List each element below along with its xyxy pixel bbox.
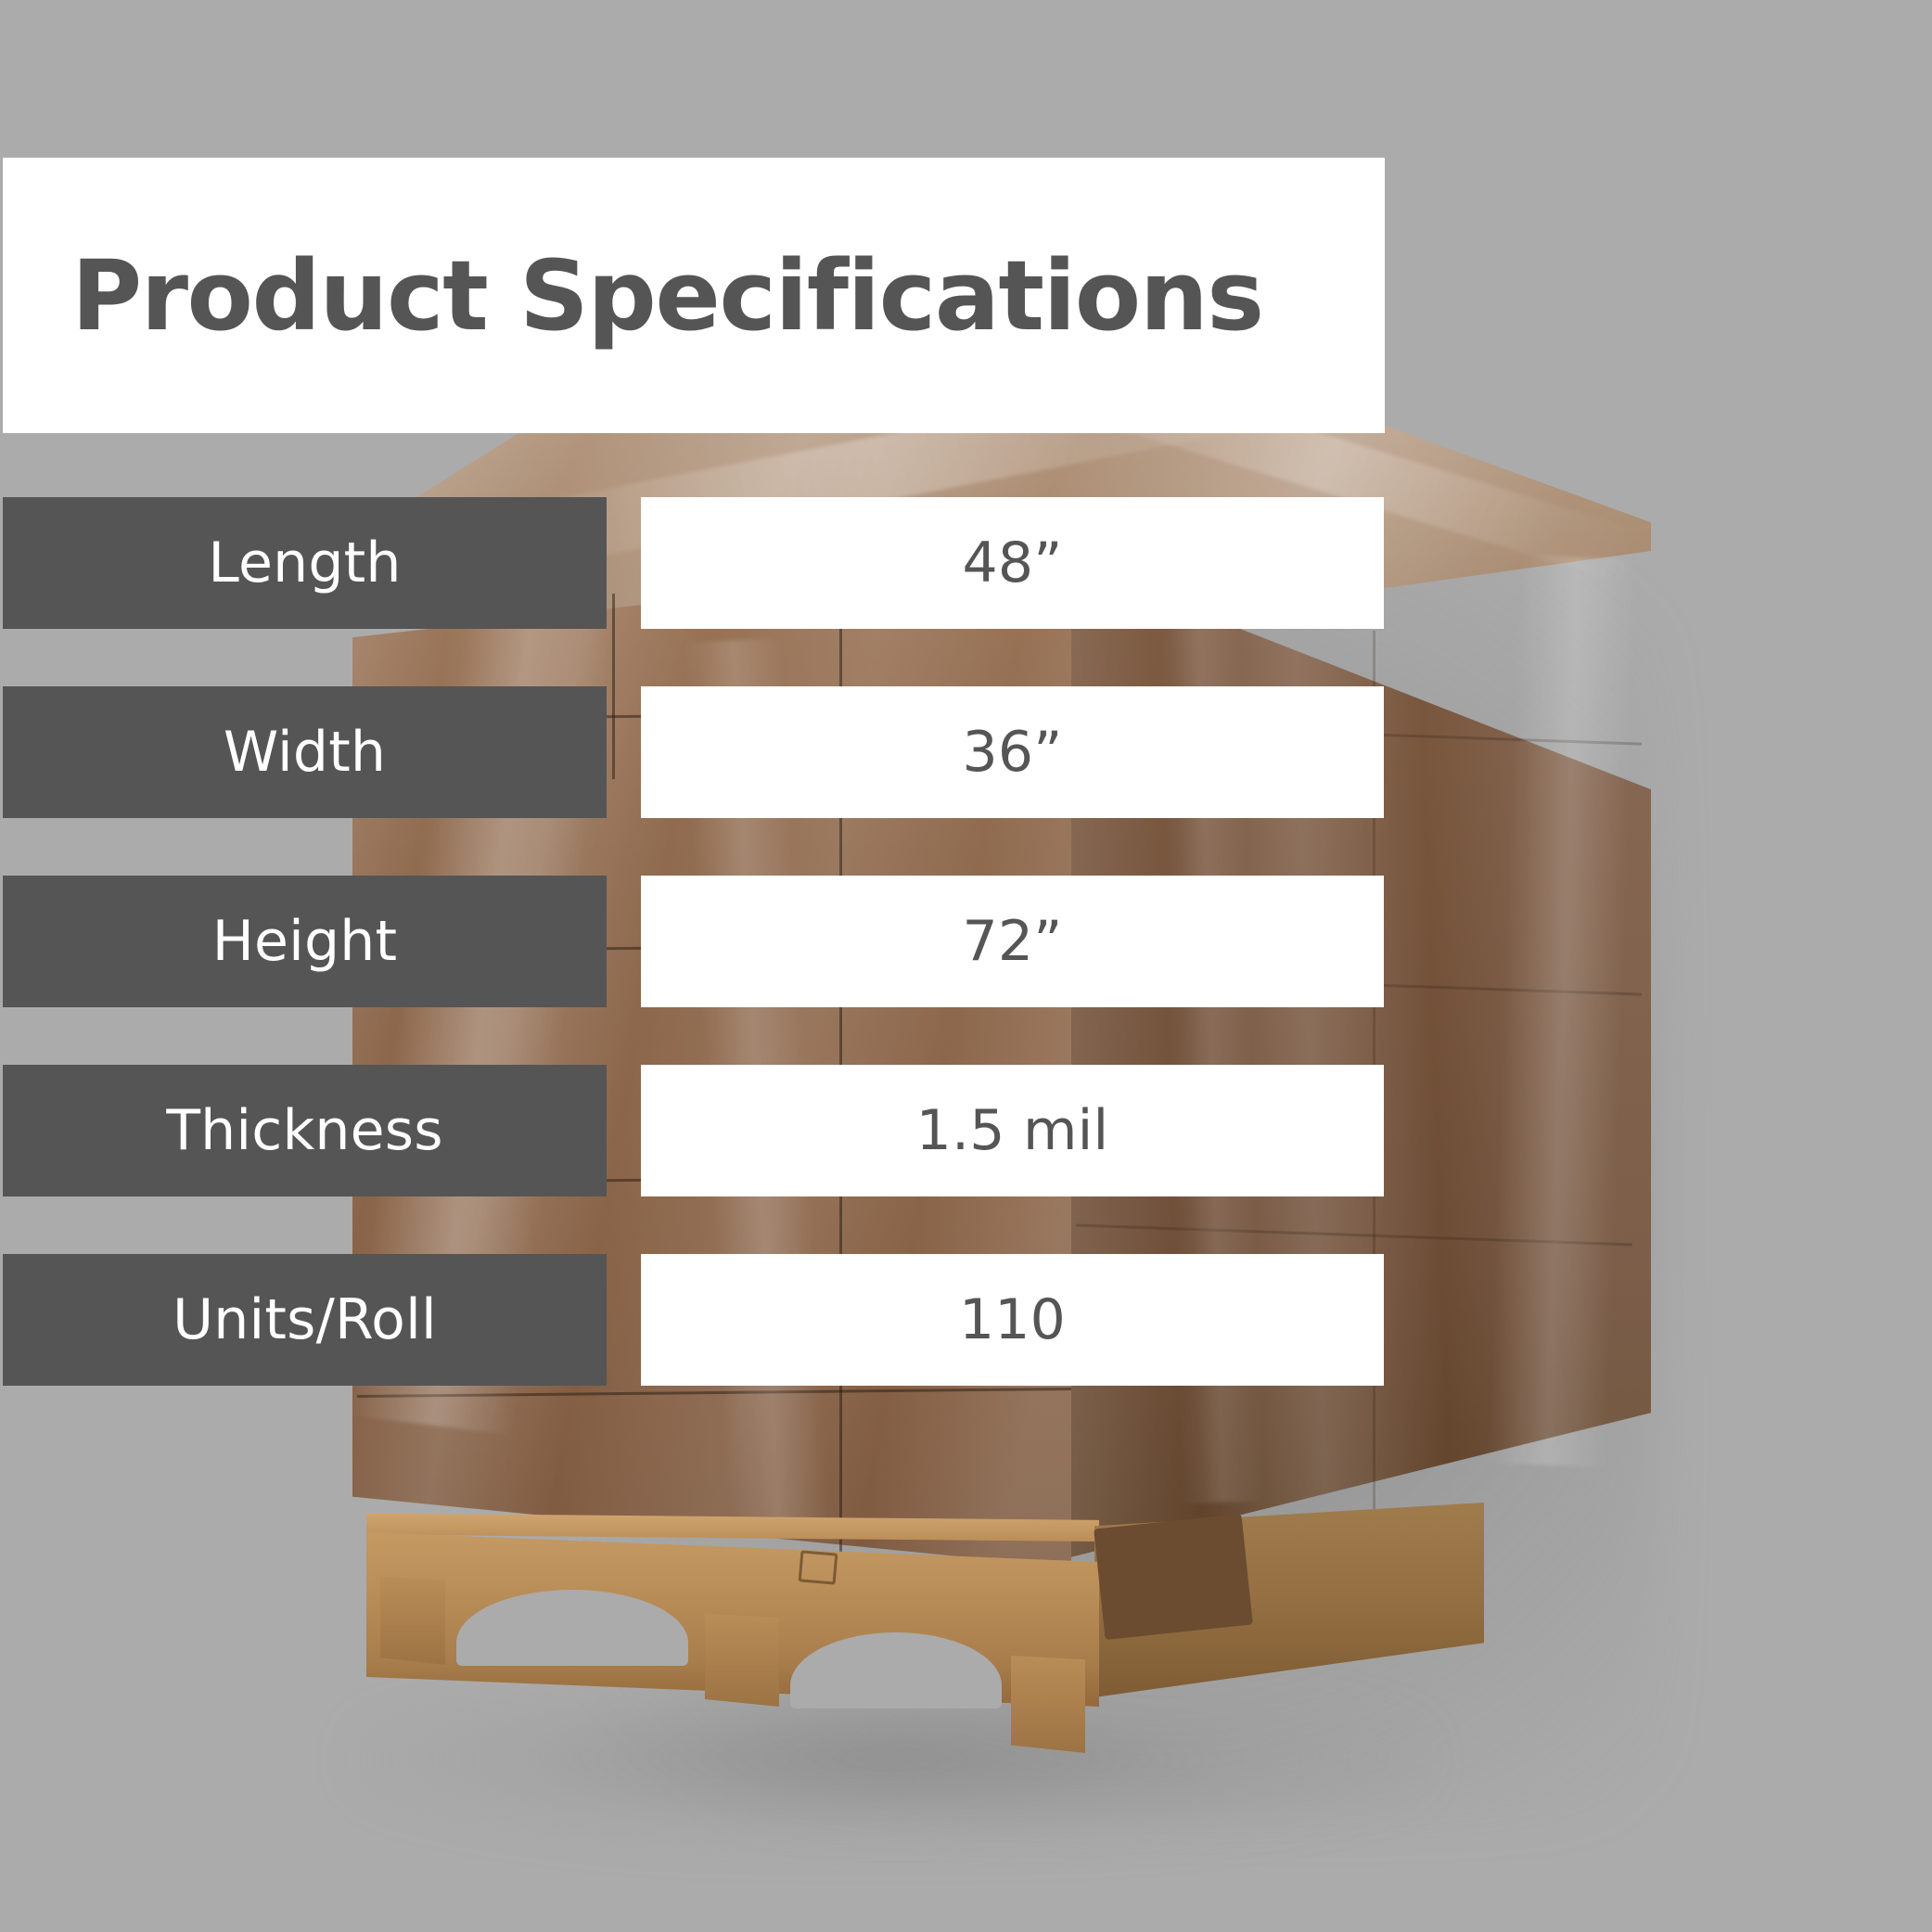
spec-value-cell-height: 72” [641,876,1384,1007]
spec-label-text: Length [208,531,401,595]
spec-label-text: Height [212,909,398,974]
pallet-block [1011,1656,1085,1753]
table-row: Length 48” [0,497,1391,629]
table-row: Height 72” [0,876,1391,1007]
spec-value-cell-length: 48” [641,497,1384,629]
spec-label-cell-thickness: Thickness [3,1065,607,1196]
spec-label-text: Thickness [166,1098,442,1163]
title-card: Product Specifications [3,158,1385,433]
pallet-stamp-icon [799,1550,838,1584]
table-row: Thickness 1.5 mil [0,1065,1391,1196]
table-row: Units/Roll 110 [0,1254,1391,1386]
pallet-fork-notch [1094,1514,1253,1640]
page-title: Product Specifications [71,248,1263,344]
spec-label-cell-height: Height [3,876,607,1007]
pallet-block [380,1577,445,1665]
specifications-table: Length 48” Width 36” Height 72” Thi [0,497,1391,1386]
table-row: Width 36” [0,686,1391,818]
spec-value-text: 36” [962,720,1062,785]
spec-label-cell-units-per-roll: Units/Roll [3,1254,607,1386]
pallet-floor-shadow [352,1688,1428,1846]
spec-value-cell-width: 36” [641,686,1384,818]
spec-label-cell-width: Width [3,686,607,818]
spec-label-text: Width [224,720,386,785]
spec-value-text: 48” [962,531,1062,595]
spec-label-cell-length: Length [3,497,607,629]
product-spec-infographic: Product Specifications Length 48” Width … [0,0,1932,1932]
spec-value-cell-units-per-roll: 110 [641,1254,1384,1386]
spec-value-text: 110 [959,1287,1066,1352]
spec-value-text: 1.5 mil [916,1098,1109,1163]
pallet-block [705,1614,779,1707]
spec-label-text: Units/Roll [173,1287,437,1352]
spec-value-text: 72” [962,909,1062,974]
spec-value-cell-thickness: 1.5 mil [641,1065,1384,1196]
